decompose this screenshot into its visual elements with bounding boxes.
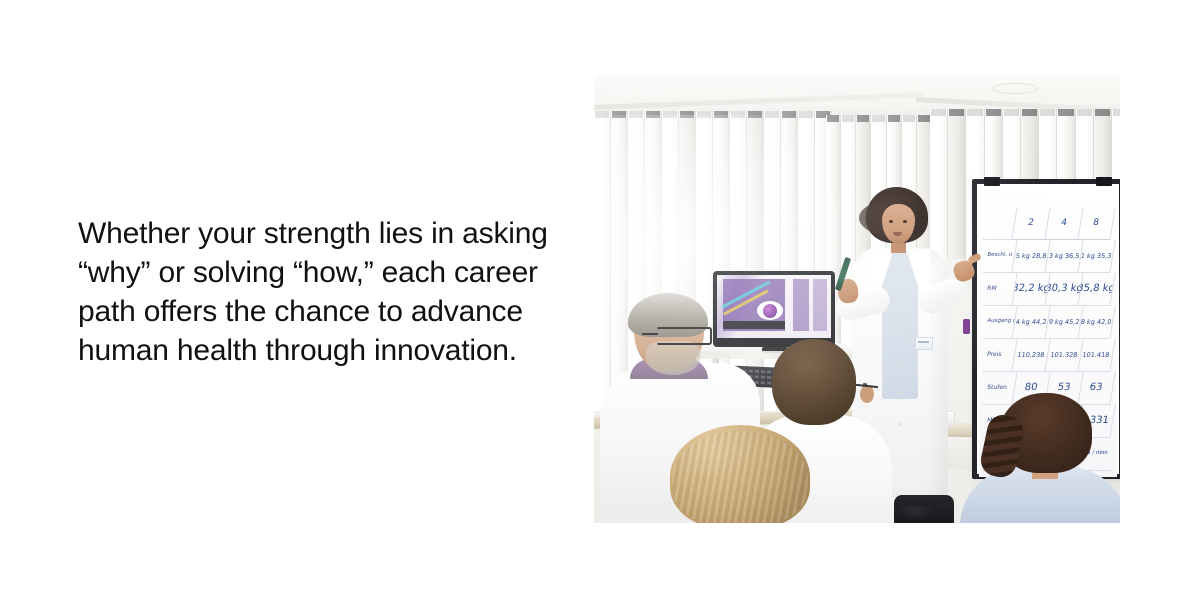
- flipchart-clip-right: [1096, 177, 1112, 186]
- table-row: 25,5 kg 28,8 kg: [1012, 240, 1050, 273]
- quote-block: Whether your strength lies in asking “wh…: [78, 214, 548, 370]
- chair-right: [894, 495, 954, 523]
- eyeglasses-icon: [656, 327, 712, 345]
- table-row: 101.418: [1078, 339, 1116, 372]
- screen-panel-right: [813, 279, 827, 331]
- table-row: 35,8 kg: [1078, 273, 1116, 306]
- beard: [646, 341, 700, 375]
- screen-badge-icon: [757, 301, 783, 320]
- ceiling-vent-icon: [992, 83, 1038, 94]
- audience-member-right: [960, 393, 1120, 523]
- screen-panel-mid: [793, 279, 809, 331]
- table-header-col3: 8: [1078, 207, 1116, 240]
- pointing-finger-icon: [967, 253, 982, 265]
- table-row: 32,2 kg: [1012, 273, 1050, 306]
- meeting-room-photo: 2 4 8 Beschl. o / u 25,5 kg 28,8 kg 26,3…: [594, 75, 1120, 523]
- table-header-col1: 2: [1012, 207, 1050, 240]
- coat-button-4: [899, 423, 902, 426]
- presenter-id-badge: [915, 337, 933, 350]
- coat-button-1: [899, 327, 902, 330]
- hair-strands: [672, 431, 808, 523]
- head: [772, 339, 856, 425]
- quote-line-1: Whether your strength lies in asking: [78, 214, 548, 253]
- table-row: 44,4 kg 44,2 kg: [1012, 306, 1050, 339]
- audience-member-foreground: [652, 425, 832, 523]
- quote-line-2: “why” or solving “how,” each career: [78, 253, 548, 292]
- ear: [860, 385, 874, 403]
- table-row: 110.238: [1012, 339, 1050, 372]
- quote-line-3: path offers the chance to advance: [78, 292, 548, 331]
- coat-button-3: [899, 391, 902, 394]
- flipchart-clip-left: [984, 177, 1000, 186]
- table-row: 37,8 kg 42,0 kg: [1078, 306, 1116, 339]
- coat-button-2: [899, 359, 902, 362]
- quote-line-4: human health through innovation.: [78, 331, 548, 370]
- table-row: 34,1 kg 35,3 kg: [1078, 240, 1116, 273]
